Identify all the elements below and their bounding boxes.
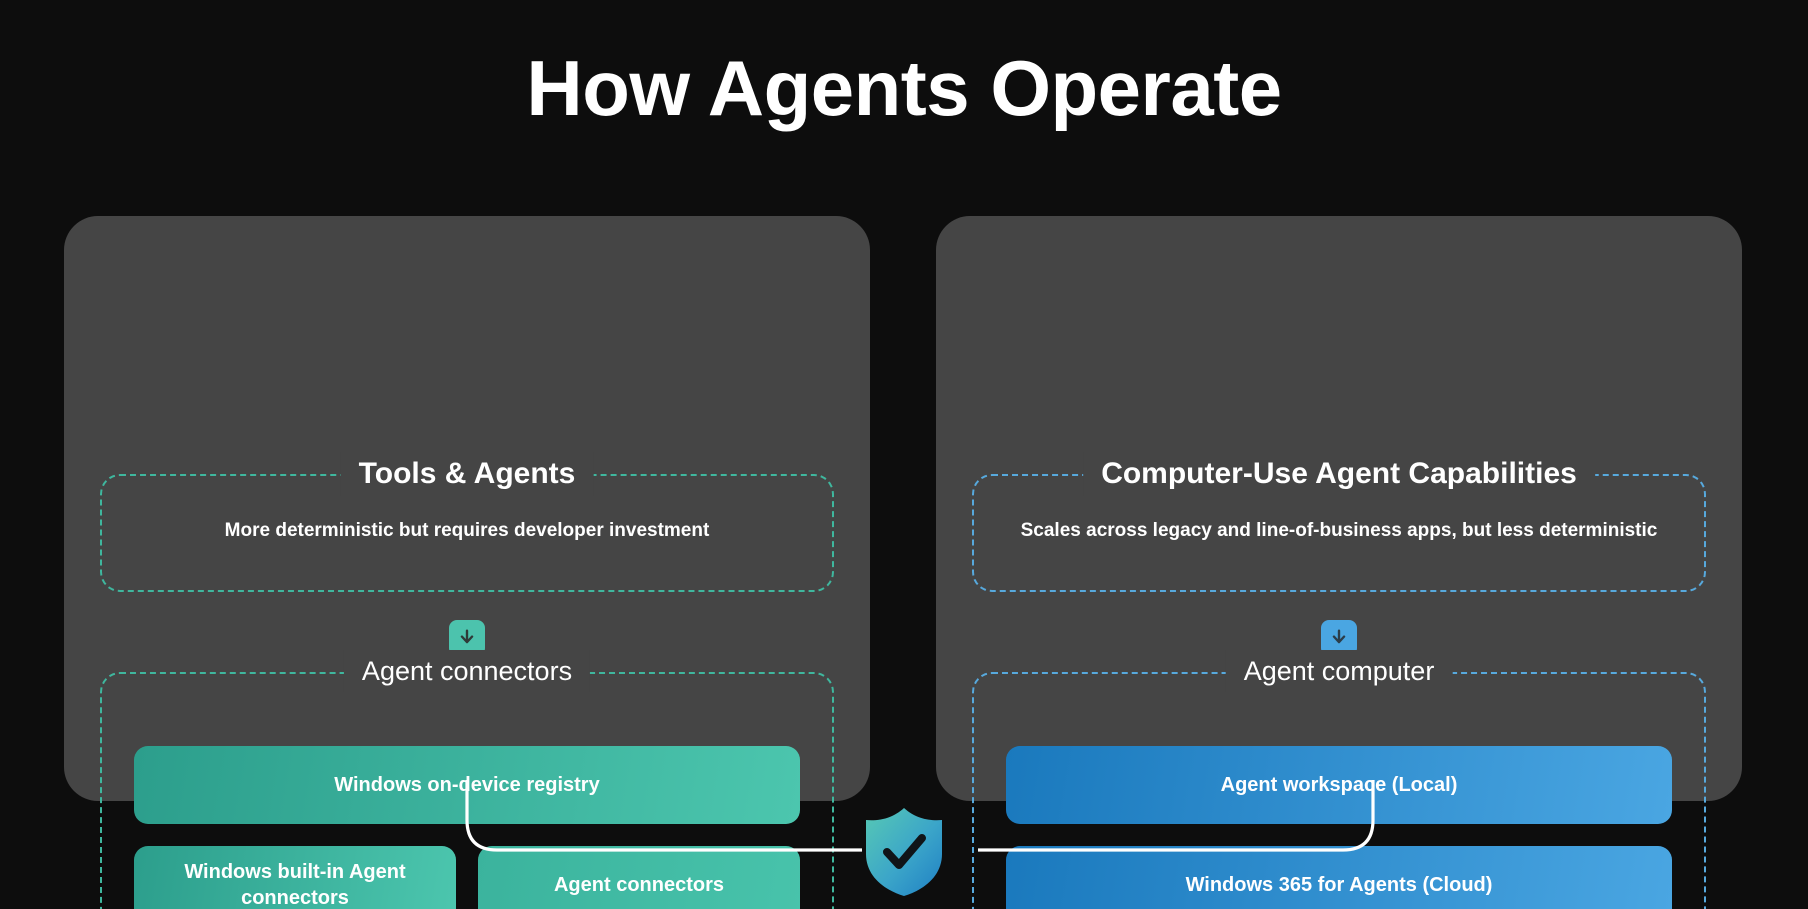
shield-check-icon: [862, 806, 946, 898]
panel-computer-use-agent-capabilities: Computer-Use Agent Capabilities Scales a…: [936, 216, 1742, 801]
page-title: How Agents Operate: [0, 40, 1808, 136]
group-title-tools-and-agents: Tools & Agents: [341, 452, 594, 496]
group-title-agent-computer: Agent computer: [1226, 650, 1453, 692]
group-title-agent-connectors: Agent connectors: [344, 650, 590, 692]
panel-tools-and-agents: Tools & Agents More deterministic but re…: [64, 216, 870, 801]
group-subtitle-tools-and-agents: More deterministic but requires develope…: [102, 516, 832, 545]
group-subtitle-computer-use-agent-capabilities: Scales across legacy and line-of-busines…: [974, 516, 1704, 545]
group-tools-and-agents-header: Tools & Agents More deterministic but re…: [100, 474, 834, 592]
group-computer-use-agent-capabilities-header: Computer-Use Agent Capabilities Scales a…: [972, 474, 1706, 592]
group-title-computer-use-agent-capabilities: Computer-Use Agent Capabilities: [1083, 452, 1595, 496]
slide-canvas: How Agents Operate Tools & Agents More d…: [0, 0, 1808, 909]
